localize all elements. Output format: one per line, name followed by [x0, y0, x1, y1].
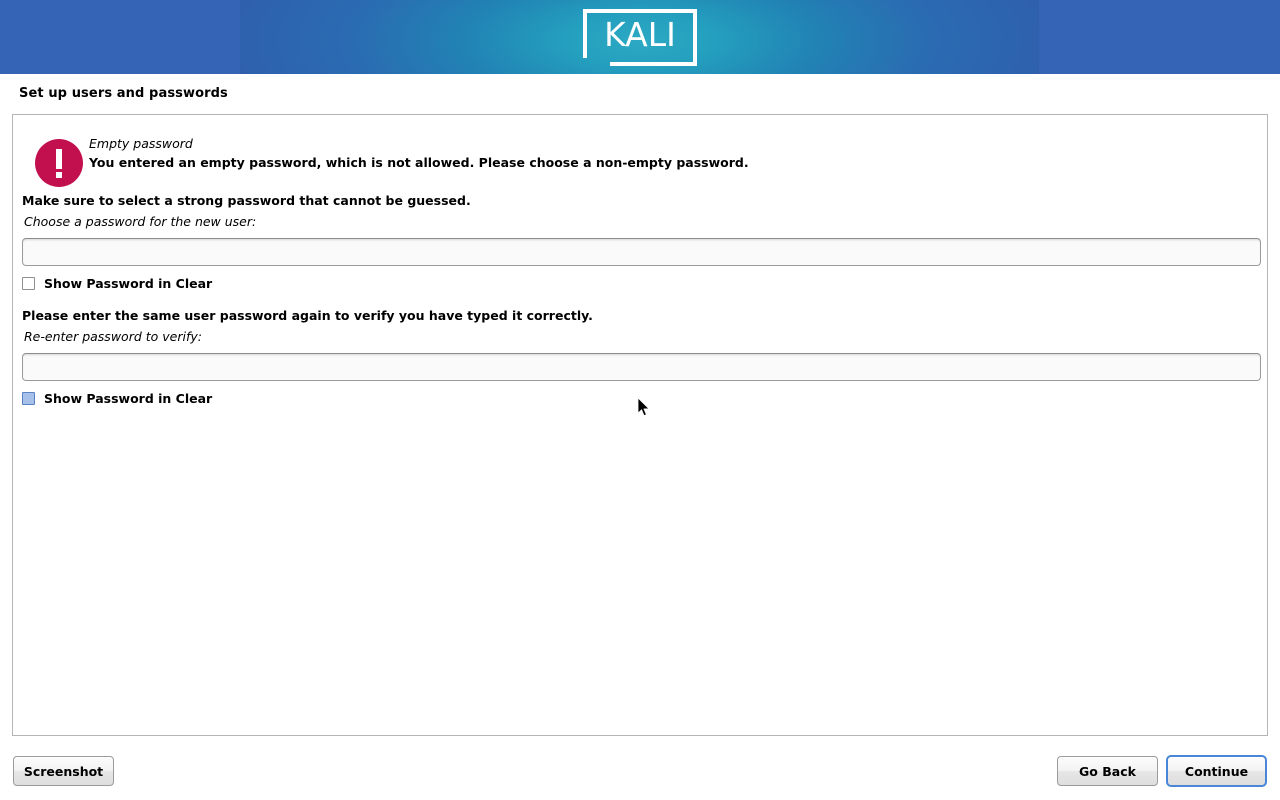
password-input[interactable]	[22, 238, 1261, 266]
logo-frame-underline	[610, 62, 697, 66]
exclamation-dot	[56, 172, 62, 178]
kali-logo-icon: KALI	[583, 9, 697, 66]
banner-left-edge	[0, 0, 241, 74]
verify-password-input[interactable]	[22, 353, 1261, 381]
kali-logo-text: KALI	[583, 9, 697, 59]
content-panel: Empty password You entered an empty pass…	[12, 114, 1268, 736]
verify-instruction: Please enter the same user password agai…	[22, 308, 593, 323]
show-password-checkbox-1[interactable]	[22, 277, 35, 290]
error-title: Empty password	[89, 136, 193, 151]
error-banner: Empty password You entered an empty pass…	[22, 124, 1252, 186]
error-exclamation-icon	[35, 139, 83, 187]
exclamation-stem	[56, 149, 62, 169]
banner-right-edge	[1039, 0, 1280, 74]
show-password-row-2[interactable]: Show Password in Clear	[22, 391, 212, 406]
verify-field-label: Re-enter password to verify:	[24, 329, 202, 344]
page-title: Set up users and passwords	[19, 86, 228, 101]
error-message: You entered an empty password, which is …	[89, 155, 749, 170]
kali-banner: KALI	[0, 0, 1280, 74]
password-field-label: Choose a password for the new user:	[24, 214, 256, 229]
password-instruction: Make sure to select a strong password th…	[22, 193, 471, 208]
continue-button[interactable]: Continue	[1166, 755, 1267, 787]
show-password-label-2: Show Password in Clear	[44, 391, 212, 406]
show-password-label-1: Show Password in Clear	[44, 276, 212, 291]
show-password-checkbox-2[interactable]	[22, 392, 35, 405]
go-back-button[interactable]: Go Back	[1057, 756, 1158, 786]
show-password-row-1[interactable]: Show Password in Clear	[22, 276, 212, 291]
installer-screen: KALI Set up users and passwords Empty pa…	[0, 0, 1280, 800]
screenshot-button[interactable]: Screenshot	[13, 756, 114, 786]
